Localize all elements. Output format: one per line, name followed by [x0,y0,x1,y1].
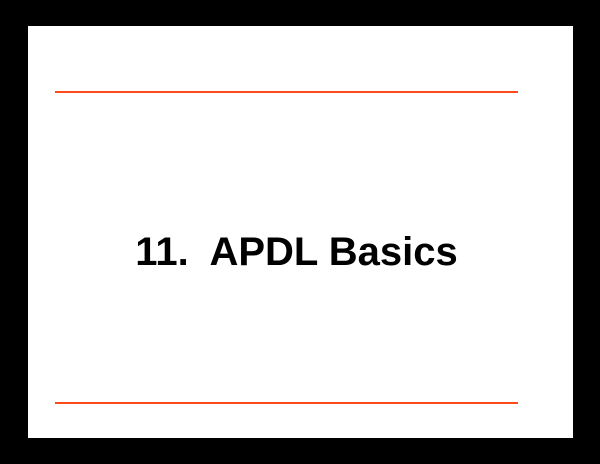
slide-page: 11. APDL Basics [28,26,573,438]
bottom-divider-rule [55,402,518,404]
slide-canvas: 11. APDL Basics [0,0,600,464]
title-container: 11. APDL Basics [28,222,573,282]
top-divider-rule [55,91,518,93]
slide-title: 11. APDL Basics [135,232,457,272]
